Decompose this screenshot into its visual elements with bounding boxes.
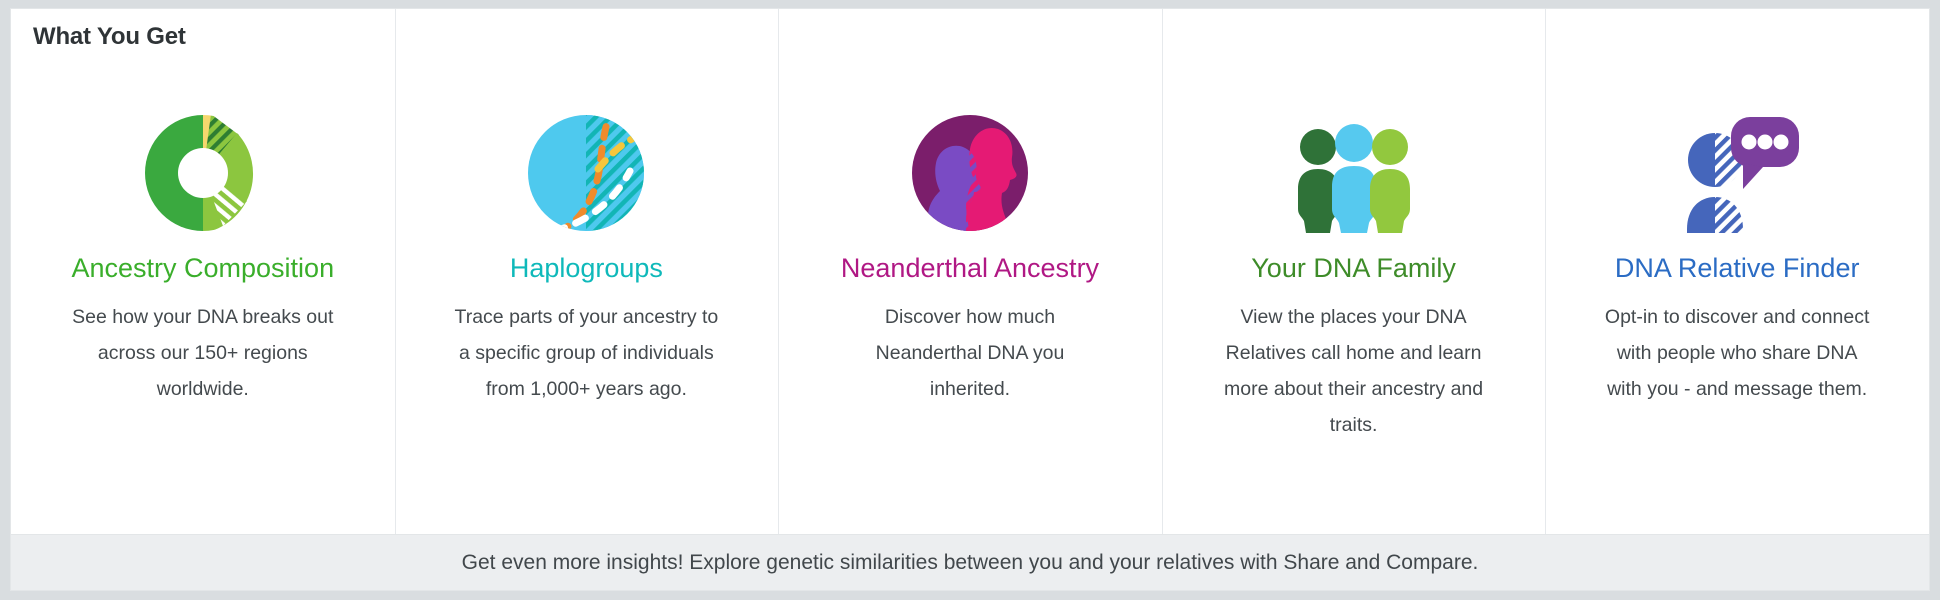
- card-title-ancestry-composition: Ancestry Composition: [71, 251, 334, 285]
- haplogroups-globe-icon: [520, 107, 652, 239]
- card-title-neanderthal-ancestry: Neanderthal Ancestry: [841, 251, 1099, 285]
- what-you-get-panel: What You Get: [10, 8, 1930, 591]
- card-neanderthal-ancestry[interactable]: Neanderthal Ancestry Discover how much N…: [778, 9, 1162, 534]
- card-description-ancestry-composition: See how your DNA breaks out across our 1…: [68, 299, 338, 407]
- card-ancestry-composition[interactable]: Ancestry Composition See how your DNA br…: [11, 9, 395, 534]
- card-title-dna-relative-finder: DNA Relative Finder: [1615, 251, 1860, 285]
- card-description-neanderthal-ancestry: Discover how much Neanderthal DNA you in…: [835, 299, 1105, 407]
- dna-family-people-icon: [1288, 107, 1420, 239]
- card-your-dna-family[interactable]: Your DNA Family View the places your DNA…: [1162, 9, 1546, 534]
- footer-text: Get even more insights! Explore genetic …: [462, 551, 1479, 575]
- feature-card-list: Ancestry Composition See how your DNA br…: [11, 9, 1929, 534]
- dna-relative-finder-chat-icon: [1671, 107, 1803, 239]
- page-title: What You Get: [11, 9, 186, 51]
- neanderthal-profiles-icon: [904, 107, 1036, 239]
- card-description-dna-relative-finder: Opt-in to discover and connect with peop…: [1602, 299, 1872, 407]
- card-description-haplogroups: Trace parts of your ancestry to a specif…: [451, 299, 721, 407]
- ancestry-composition-donut-icon: [137, 107, 269, 239]
- card-dna-relative-finder[interactable]: DNA Relative Finder Opt-in to discover a…: [1545, 9, 1929, 534]
- card-description-your-dna-family: View the places your DNA Relatives call …: [1219, 299, 1489, 443]
- share-and-compare-footer: Get even more insights! Explore genetic …: [11, 534, 1929, 590]
- page-root: What You Get: [0, 0, 1940, 600]
- card-haplogroups[interactable]: Haplogroups Trace parts of your ancestry…: [395, 9, 779, 534]
- card-title-your-dna-family: Your DNA Family: [1251, 251, 1456, 285]
- card-title-haplogroups: Haplogroups: [510, 251, 663, 285]
